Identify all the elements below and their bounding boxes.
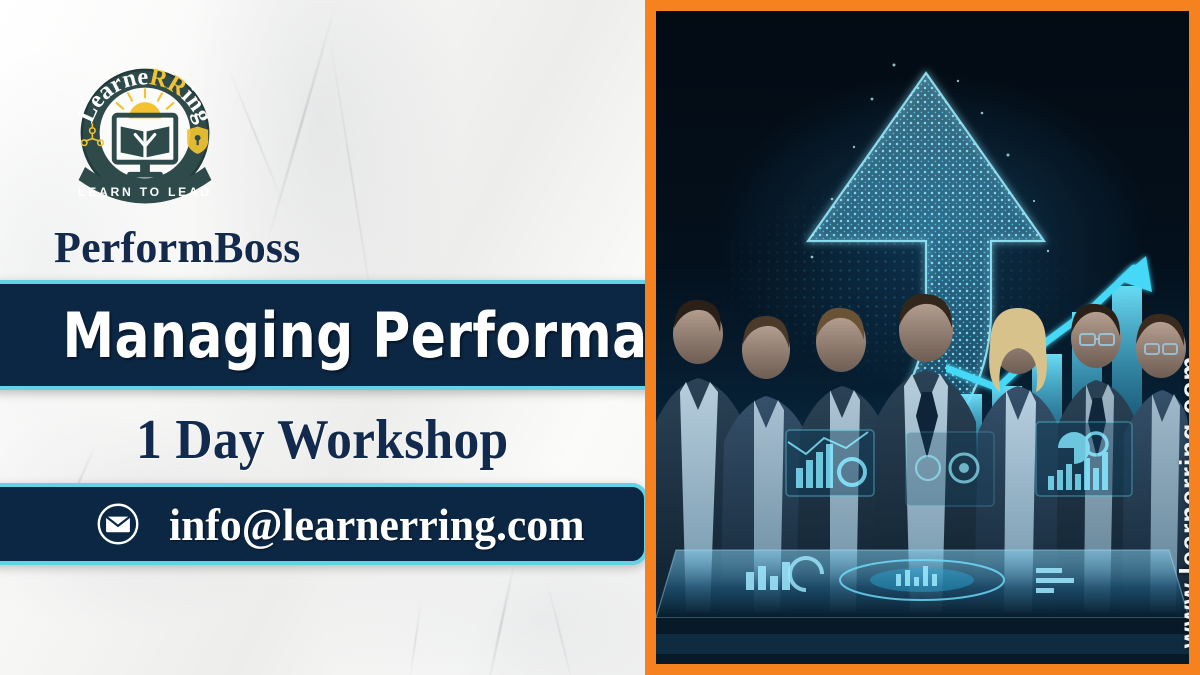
workshop-duration: 1 Day Workshop bbox=[0, 404, 645, 476]
marble-vein bbox=[487, 561, 516, 675]
event-photo-panel: www.learnerring.com bbox=[645, 0, 1200, 675]
learnerring-logo: LearneRRing bbox=[64, 52, 226, 214]
website-url: www.learnerring.com bbox=[1175, 356, 1189, 649]
workshop-duration-label: 1 Day Workshop bbox=[136, 408, 508, 472]
marble-vein bbox=[409, 600, 421, 675]
holographic-table bbox=[656, 544, 1189, 664]
logo-tagline: LEARN TO LEAD bbox=[78, 185, 212, 199]
program-name: PerformBoss bbox=[54, 222, 301, 273]
marble-vein bbox=[266, 5, 337, 246]
marble-vein bbox=[227, 65, 284, 205]
marble-vein bbox=[547, 581, 575, 675]
contact-email-bar[interactable]: info@learnerring.com bbox=[0, 483, 648, 565]
envelope-icon bbox=[96, 502, 140, 546]
contact-email: info@learnerring.com bbox=[169, 498, 585, 551]
